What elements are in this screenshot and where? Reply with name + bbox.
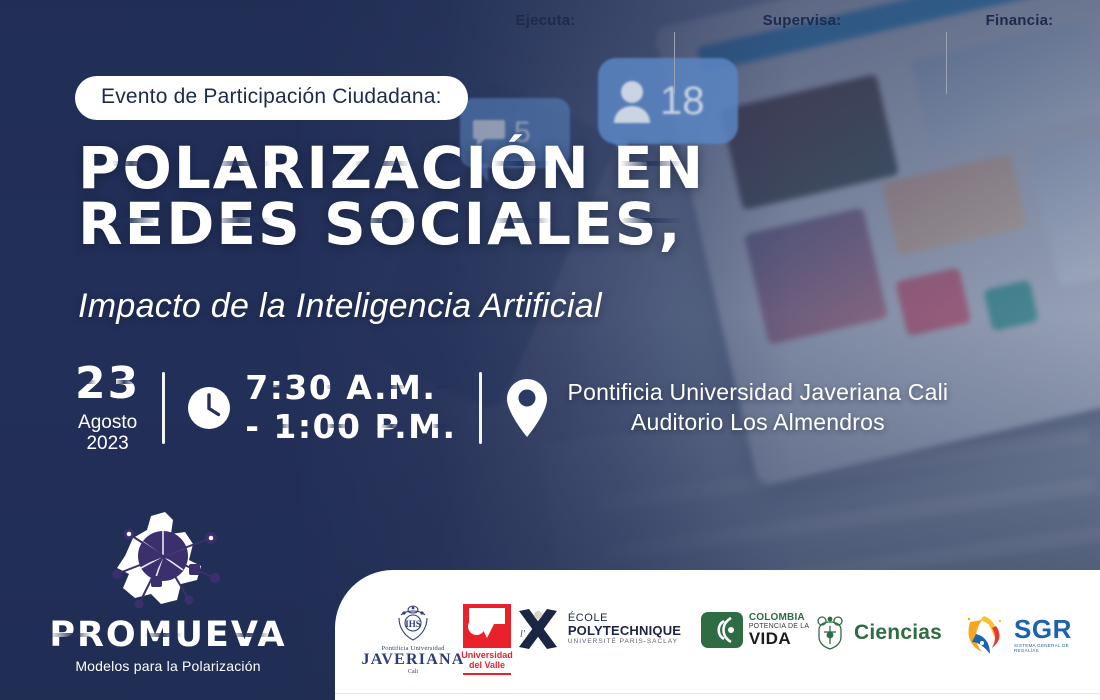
- event-time-end: - 1:00 P.M.: [245, 408, 456, 447]
- footer-divider-2: [946, 32, 947, 94]
- footer-separator-line: [335, 693, 1100, 694]
- logo-univalle: Universidad del Valle: [456, 604, 518, 675]
- ciencias-label: Ciencias: [854, 621, 942, 645]
- univalle-rule: [463, 673, 511, 675]
- polytechnique-line-3: UNIVERSITÉ PARIS-SACLAY: [568, 639, 681, 646]
- logo-polytechnique: l' ÉCOLE POLYTECHNIQUE UNIVERSITÉ PARIS-…: [528, 607, 668, 651]
- univalle-v-icon: [463, 604, 511, 648]
- event-place: Pontificia Universidad Javeriana Cali Au…: [504, 362, 949, 453]
- clock-icon: [187, 386, 231, 430]
- logo-sgr: SGR SISTEMA GENERAL DE REGALÍAS: [962, 612, 1074, 656]
- venue-line-2: Auditorio Los Almendros: [568, 408, 949, 438]
- javeriana-line-2: JAVERIANA: [362, 652, 465, 669]
- sgr-swoosh-icon: [962, 612, 1008, 656]
- promueva-tagline: Modelos para la Polarización: [48, 658, 288, 674]
- logo-ciencias: Ciencias: [820, 614, 935, 652]
- univalle-line-2: del Valle: [461, 661, 513, 671]
- logo-javeriana: IHS Pontificia Universidad JAVERIANA Cal…: [368, 603, 458, 675]
- promueva-network-map-icon: [93, 508, 243, 613]
- event-poster: 5 18 Evento de Participación Ciudadana: …: [0, 0, 1100, 700]
- venue-line-1: Pontificia Universidad Javeriana Cali: [568, 378, 949, 408]
- svg-text:l': l': [520, 629, 526, 640]
- event-info-strip: 23 Agosto 2023 7:30 A.M. - 1:00 P.M.: [75, 362, 948, 453]
- divider-date-time: [162, 372, 165, 444]
- page-subtitle: Impacto de la Inteligencia Artificial: [78, 287, 602, 326]
- footer-label-ejecuta: Ejecuta:: [498, 12, 593, 29]
- javeriana-crest-icon: IHS: [391, 603, 435, 643]
- footer-label-financia: Financia:: [972, 12, 1067, 29]
- sgr-sublabel: SISTEMA GENERAL DE REGALÍAS: [1014, 643, 1074, 653]
- location-pin-icon: [504, 377, 550, 439]
- javeriana-line-3: Cali: [408, 669, 418, 675]
- divider-time-place: [479, 372, 482, 444]
- footer-label-supervisa: Supervisa:: [752, 12, 852, 29]
- promueva-wordmark: PROMUEVA: [49, 615, 286, 655]
- svg-text:IHS: IHS: [405, 619, 421, 629]
- colombia-line-1: COLOMBIA: [749, 613, 809, 623]
- colombia-line-3: VIDA: [749, 630, 809, 647]
- logo-colombia-potencia: COLOMBIA POTENCIA DE LA VIDA: [700, 612, 810, 648]
- event-day: 23: [75, 362, 140, 406]
- event-year: 2023: [75, 434, 140, 453]
- polytechnique-line-2: POLYTECHNIQUE: [568, 624, 681, 638]
- title-line-1: POLARIZACIÓN EN: [78, 140, 705, 196]
- event-month: Agosto: [75, 413, 140, 432]
- sgr-label: SGR: [1014, 616, 1074, 642]
- polytechnique-x-icon: l': [515, 607, 561, 651]
- page-title: POLARIZACIÓN EN REDES SOCIALES,: [78, 140, 705, 253]
- colombia-signal-icon: [701, 612, 743, 648]
- colombia-coat-of-arms-icon: [813, 614, 847, 652]
- promueva-logo: PROMUEVA Modelos para la Polarización: [48, 508, 288, 674]
- footer-divider-1: [674, 32, 675, 94]
- event-time: 7:30 A.M. - 1:00 P.M.: [187, 362, 456, 453]
- title-line-2: REDES SOCIALES,: [78, 196, 705, 252]
- event-type-badge: Evento de Participación Ciudadana:: [75, 76, 468, 120]
- event-date: 23 Agosto 2023: [75, 362, 140, 453]
- event-time-start: 7:30 A.M.: [245, 369, 456, 408]
